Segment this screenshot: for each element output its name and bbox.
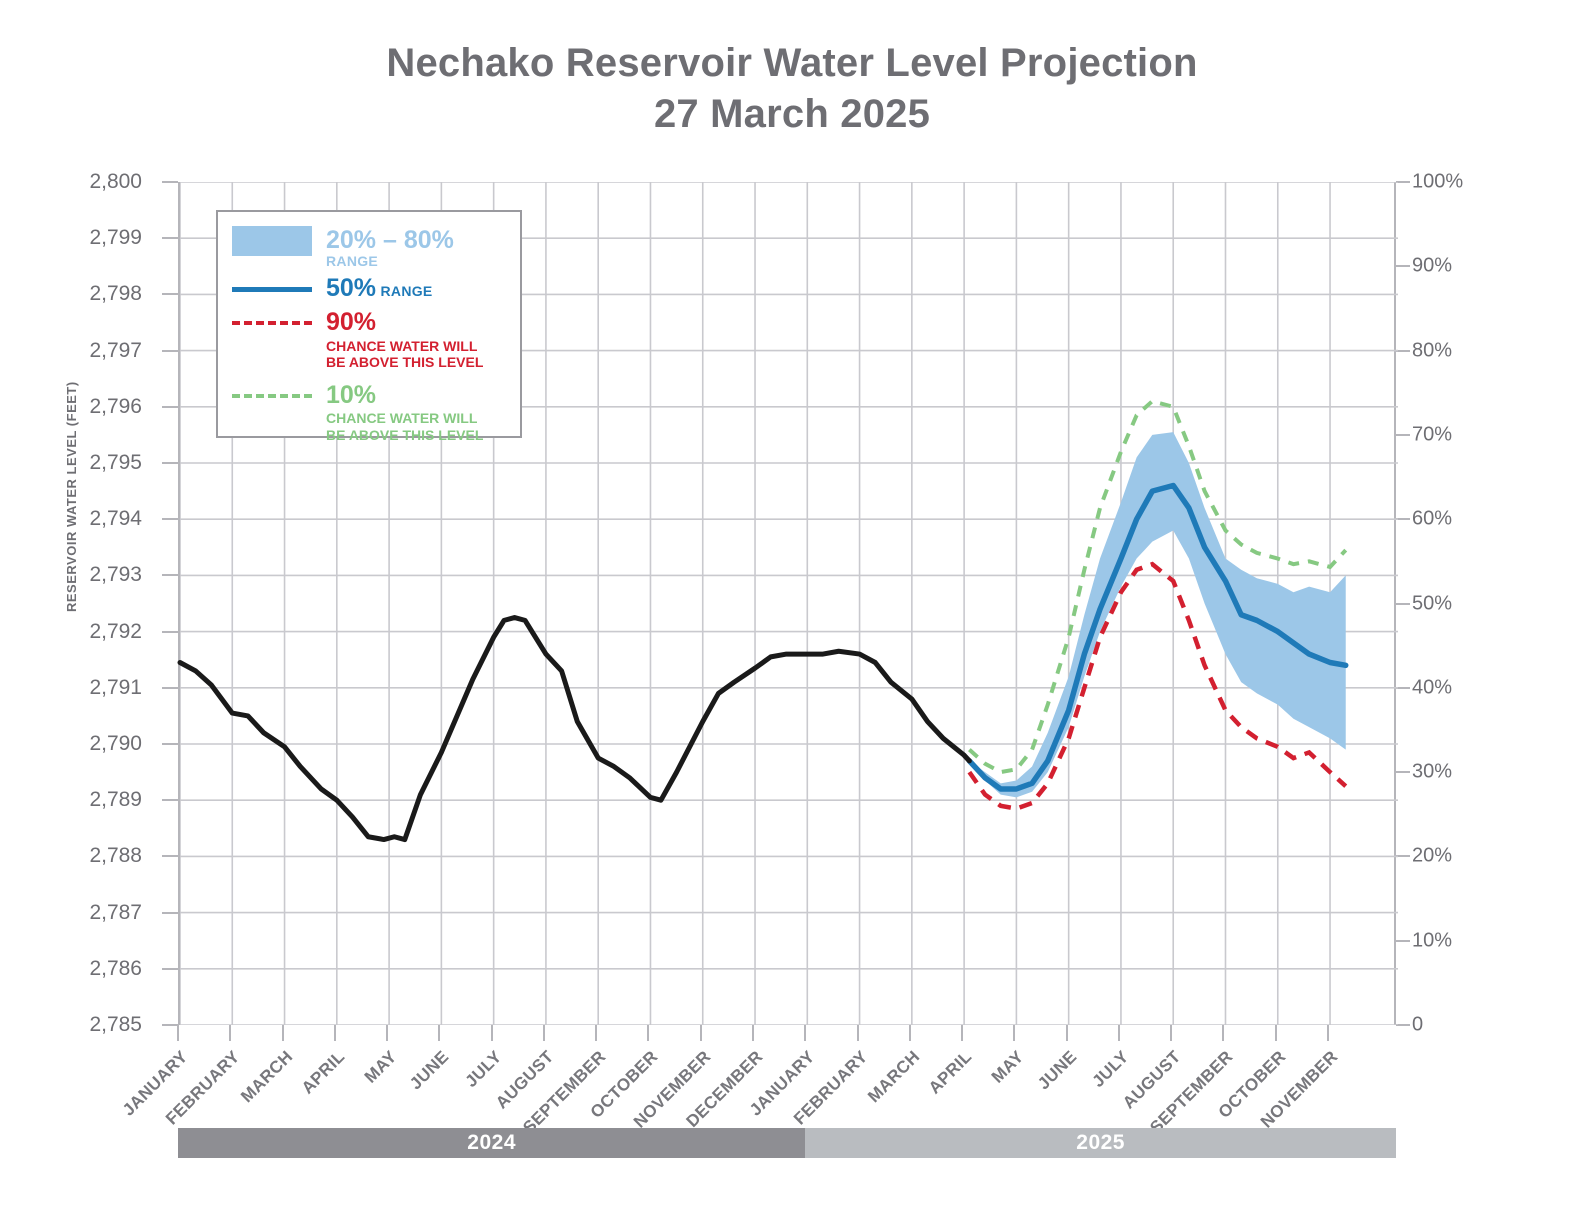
legend-value-20-80: 20% – 80% [326,226,454,254]
legend-unit-20-80: RANGE [326,253,378,269]
chart-legend: 20% – 80% RANGE 50% RANGE 90% CHANCE WAT… [216,210,522,438]
x-axis-tickmark [647,1025,649,1041]
x-axis-tickmark [1170,1025,1172,1041]
x-axis-tickmark [386,1025,388,1041]
x-axis-month-labels: JANUARYFEBRUARYMARCHAPRILMAYJUNEJULYAUGU… [0,0,1584,1224]
x-axis-tickmark [1066,1025,1068,1041]
x-axis-tickmark [229,1025,231,1041]
x-axis-tickmark [595,1025,597,1041]
legend-value-10: 10% [326,382,483,409]
legend-unit-50: RANGE [381,283,433,299]
legend-item-90-percent: 90% CHANCE WATER WILL BE ABOVE THIS LEVE… [218,308,520,371]
x-axis-tickmark [857,1025,859,1041]
x-axis-tickmark [909,1025,911,1041]
x-axis-tickmark [543,1025,545,1041]
x-axis-tickmark [752,1025,754,1041]
x-axis-tickmark [1118,1025,1120,1041]
x-axis-tickmark [177,1025,179,1041]
legend-item-range-50: 50% RANGE [218,274,520,304]
x-axis-tickmark [961,1025,963,1041]
legend-sub-90: CHANCE WATER WILL BE ABOVE THIS LEVEL [326,338,483,371]
legend-sub-10: CHANCE WATER WILL BE ABOVE THIS LEVEL [326,410,483,443]
year-bar-2025: 2025 [805,1128,1396,1158]
legend-item-range-20-80: 20% – 80% RANGE [218,226,520,270]
legend-value-50: 50% [326,274,376,302]
x-axis-tickmark [491,1025,493,1041]
x-axis-tickmark [804,1025,806,1041]
x-axis-tickmark [1327,1025,1329,1041]
legend-swatch-band-icon [232,226,312,256]
x-axis-tickmark [282,1025,284,1041]
legend-value-90: 90% [326,309,483,336]
legend-swatch-dashed-green-icon [232,381,312,411]
year-bar-2024: 2024 [178,1128,805,1158]
x-axis-tickmark [438,1025,440,1041]
x-axis-tickmark [1013,1025,1015,1041]
legend-swatch-dashed-red-icon [232,308,312,338]
x-axis-tickmark [700,1025,702,1041]
x-axis-tickmark [334,1025,336,1041]
legend-item-10-percent: 10% CHANCE WATER WILL BE ABOVE THIS LEVE… [218,381,520,444]
chart-root: Nechako Reservoir Water Level Projection… [0,0,1584,1224]
x-axis-tickmark [1275,1025,1277,1041]
x-axis-tickmark [1222,1025,1224,1041]
legend-swatch-solid-line-icon [232,274,312,304]
